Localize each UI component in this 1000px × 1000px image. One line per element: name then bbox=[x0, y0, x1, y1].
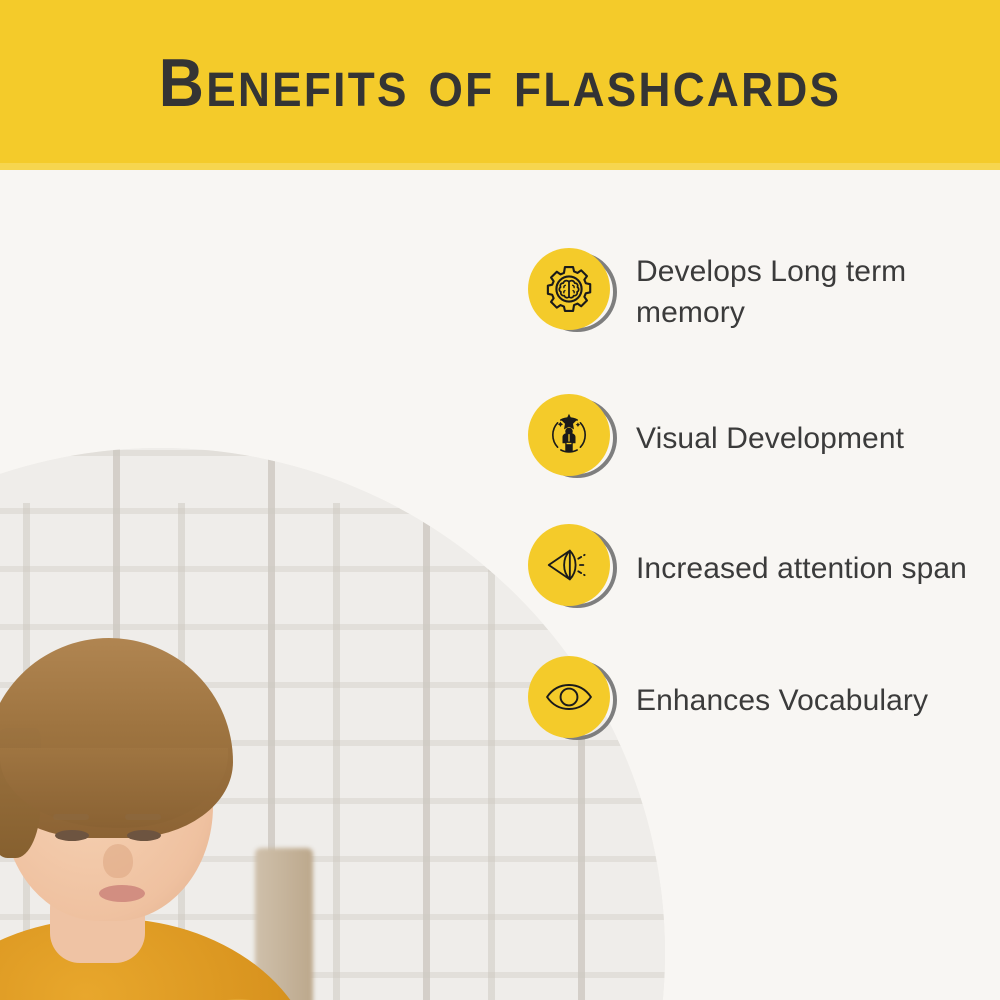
header-banner-underline bbox=[0, 163, 1000, 170]
child-eyebrow-right bbox=[125, 814, 161, 820]
benefit-icon-wrap-4 bbox=[528, 656, 620, 744]
child-eye-right bbox=[127, 830, 161, 841]
infographic-canvas: Benefits of flashcards bbox=[0, 0, 1000, 1000]
benefit-icon-wrap-3 bbox=[528, 524, 620, 612]
child-mouth bbox=[99, 885, 145, 902]
child-eyebrow-left bbox=[53, 814, 89, 820]
benefit-item-2[interactable]: Visual Development bbox=[528, 394, 904, 482]
benefit-item-1[interactable]: Develops Long term memory bbox=[528, 248, 988, 336]
benefit-item-3[interactable]: Increased attention span bbox=[528, 524, 967, 612]
benefit-icon-wrap-1 bbox=[528, 248, 620, 336]
brain-gear-icon bbox=[528, 248, 610, 330]
person-star-icon bbox=[528, 394, 610, 476]
benefit-item-4[interactable]: Enhances Vocabulary bbox=[528, 656, 928, 744]
benefit-icon-wrap-2 bbox=[528, 394, 620, 482]
benefit-label-4: Enhances Vocabulary bbox=[636, 680, 928, 721]
child-nose bbox=[103, 844, 133, 878]
child-eye-left bbox=[55, 830, 89, 841]
page-title: Benefits of flashcards bbox=[40, 47, 960, 119]
eye-rays-icon bbox=[528, 524, 610, 606]
benefit-label-2: Visual Development bbox=[636, 418, 904, 459]
benefit-label-1: Develops Long term memory bbox=[636, 251, 988, 333]
benefit-label-3: Increased attention span bbox=[636, 548, 967, 589]
eye-icon bbox=[528, 656, 610, 738]
